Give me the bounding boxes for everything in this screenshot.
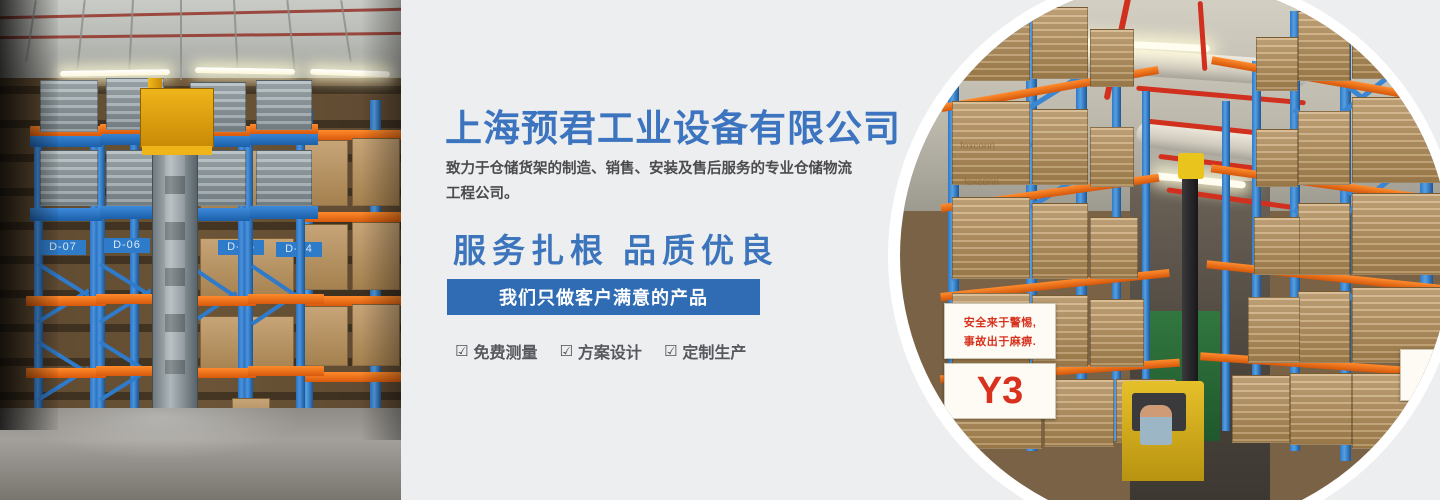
right-warehouse-photo: foxconn foxconn foxconn foxconn [900, 0, 1440, 500]
pallet-load [1352, 193, 1440, 275]
pallet-load [1254, 217, 1300, 275]
right-photo-wrapper: foxconn foxconn foxconn foxconn [900, 0, 1440, 500]
pallet-load [256, 150, 312, 206]
checkbox-check-icon: ☑ [455, 344, 468, 359]
rack-beam [250, 206, 318, 219]
left-photo-shadow [361, 0, 401, 440]
feature-item-plan-design: ☑ 方案设计 [559, 339, 641, 363]
pallet-load [1032, 7, 1088, 79]
pallet-load [1248, 297, 1300, 363]
pallet-load [1352, 97, 1440, 183]
carton-brand-text: foxconn [960, 141, 995, 152]
pallet-load [1352, 0, 1440, 79]
slogan-part-1: 服务扎根 [453, 234, 609, 270]
checkbox-check-icon: ☑ [559, 344, 572, 359]
pallet-load [1298, 291, 1350, 363]
safety-sign-line-1: 安全来于警惕, [964, 314, 1037, 330]
aisle-code-sign: Y3 [944, 363, 1056, 419]
bay-label: D-06 [104, 238, 150, 253]
checkbox-check-icon: ☑ [664, 344, 677, 359]
forklift-mast-top [1178, 153, 1204, 179]
feature-item-free-measure: ☑ 免费测量 [455, 339, 537, 363]
stacker-crane-fork [142, 146, 212, 155]
carton [300, 306, 348, 366]
company-subtitle: 致力于仓储货架的制造、销售、安装及售后服务的专业仓储物流工程公司。 [446, 157, 864, 207]
slogan: 服务扎根品质优良 [453, 224, 779, 272]
pallet-load [1232, 375, 1290, 443]
carton-brand-text: foxconn [962, 3, 997, 14]
feature-label: 定制生产 [682, 339, 746, 363]
pallet-load [1090, 217, 1138, 279]
cta-button[interactable]: 我们只做客户满意的产品 [447, 279, 760, 315]
feature-label: 方案设计 [578, 339, 642, 363]
pallet-load [1090, 29, 1134, 87]
aisle-code-text: Y3 [977, 372, 1023, 410]
rack-beam [248, 366, 324, 376]
aisle-code-sign-far: Y3 [1400, 349, 1440, 401]
pallet-load [1298, 111, 1350, 185]
stacker-crane-head [140, 88, 214, 148]
pallet-load [1032, 109, 1088, 185]
forklift-driver [1140, 405, 1172, 445]
company-title: 上海预君工业设备有限公司 [445, 98, 901, 152]
pallet-load [1032, 203, 1088, 279]
pallet-load [1298, 11, 1350, 81]
left-photo-shadow [0, 0, 58, 430]
pallet-load [1090, 299, 1144, 367]
pallet-load [256, 80, 312, 130]
left-warehouse-photo: D-07 D-06 D-05 D-04 [0, 0, 401, 500]
left-photo-floor [0, 408, 401, 500]
pallet-load [1256, 129, 1298, 187]
carton-brand-text: foxconn [966, 33, 1001, 44]
ceiling-purlin [180, 0, 182, 80]
feature-label: 免费测量 [473, 339, 537, 363]
hero-banner: D-07 D-06 D-05 D-04 [0, 0, 1440, 500]
pallet-load [1290, 373, 1352, 445]
feature-list: ☑ 免费测量 ☑ 方案设计 ☑ 定制生产 [455, 339, 746, 363]
pallet-load [190, 150, 246, 206]
carton [300, 224, 348, 290]
aisle-code-text-far: Y3 [1429, 350, 1440, 402]
pallet-load [952, 197, 1030, 279]
safety-warning-sign: 安全来于警惕, 事故出于麻痹. [944, 303, 1056, 359]
feature-item-custom-production: ☑ 定制生产 [664, 339, 746, 363]
pallet-load [1256, 37, 1298, 91]
pallet-load [1298, 203, 1350, 275]
stacker-crane-mast [152, 115, 198, 445]
pallet-load [1090, 127, 1134, 187]
slogan-part-2: 品质优良 [623, 234, 779, 270]
banner-text-block: 上海预君工业设备有限公司 致力于仓储货架的制造、销售、安装及售后服务的专业仓储物… [445, 0, 915, 500]
rack-beam [248, 294, 324, 304]
safety-sign-line-2: 事故出于麻痹. [964, 333, 1037, 349]
carton-brand-text: foxconn [964, 177, 999, 188]
